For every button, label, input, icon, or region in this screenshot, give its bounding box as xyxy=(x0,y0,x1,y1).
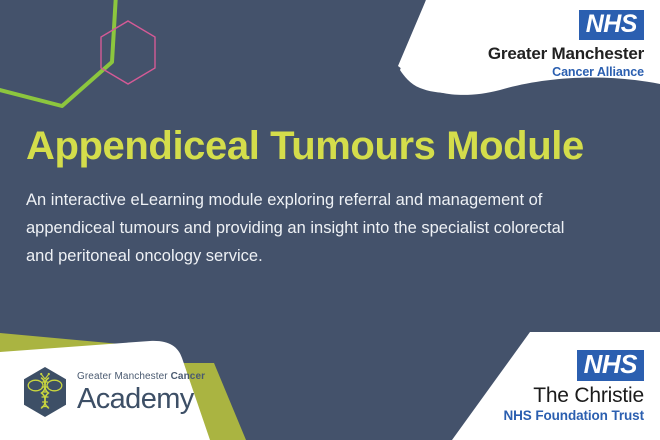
bee-dna-hexagon-icon xyxy=(22,366,68,418)
academy-line1-regular: Greater Manchester xyxy=(77,371,171,382)
page-description: An interactive eLearning module explorin… xyxy=(26,170,586,270)
slide-canvas: Appendiceal Tumours Module An interactiv… xyxy=(0,0,660,440)
page-title: Appendiceal Tumours Module xyxy=(26,122,626,170)
academy-logo-line2: Academy xyxy=(77,384,205,414)
gm-cancer-academy-logo: Greater Manchester Cancer Academy xyxy=(22,366,205,418)
academy-logo-line1: Greater Manchester Cancer xyxy=(77,372,205,382)
nhs-logo-icon: NHS xyxy=(577,350,644,381)
hero-text-block: Appendiceal Tumours Module An interactiv… xyxy=(26,122,626,270)
academy-wordmark: Greater Manchester Cancer Academy xyxy=(77,370,205,414)
nhs-logo-icon: NHS xyxy=(579,10,644,40)
pink-hexagon-outline xyxy=(101,21,155,84)
gm-cancer-alliance-logo: NHS Greater Manchester Cancer Alliance xyxy=(488,10,644,79)
christie-logo-line2: NHS Foundation Trust xyxy=(504,409,645,423)
gmca-logo-line2: Cancer Alliance xyxy=(488,66,644,79)
christie-logo: NHS The Christie NHS Foundation Trust xyxy=(504,350,645,423)
christie-logo-line1: The Christie xyxy=(504,385,645,406)
gmca-logo-line1: Greater Manchester xyxy=(488,45,644,62)
academy-line1-bold: Cancer xyxy=(171,371,206,382)
green-polyline xyxy=(0,0,116,106)
